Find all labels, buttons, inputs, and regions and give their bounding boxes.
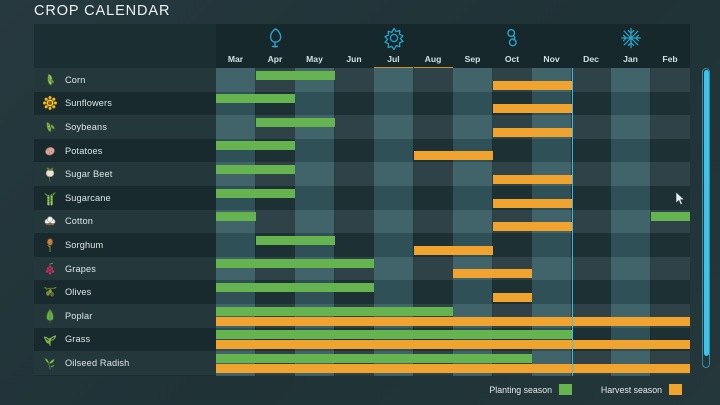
crop-name: Potatoes <box>65 146 102 156</box>
crop-name: Corn <box>65 75 86 85</box>
legend-harvest-label: Harvest season <box>601 385 662 395</box>
harvest-bar[interactable] <box>493 293 533 302</box>
planting-bar[interactable] <box>216 259 374 268</box>
sunflower-icon <box>42 95 58 111</box>
crop-name: Sugarcane <box>65 193 111 203</box>
harvest-bar[interactable] <box>493 81 572 90</box>
grass-icon <box>42 331 58 347</box>
planting-bar[interactable] <box>256 236 335 245</box>
crop-name: Poplar <box>65 311 92 321</box>
sprout-icon <box>262 26 288 50</box>
cotton-icon <box>42 213 58 229</box>
legend-harvest-swatch <box>669 384 682 395</box>
month-header-feb[interactable]: Feb <box>651 52 690 66</box>
crop-name: Sorghum <box>65 240 103 250</box>
harvest-bar[interactable] <box>493 104 572 113</box>
month-header-sep[interactable]: Sep <box>453 52 492 66</box>
page-title: CROP CALENDAR <box>34 0 170 22</box>
snowflake-icon <box>618 26 644 50</box>
harvest-bar[interactable] <box>216 364 690 373</box>
harvest-bar[interactable] <box>216 317 690 326</box>
crop-row-label[interactable]: Sorghum <box>34 233 216 257</box>
crop-row-label[interactable]: Oilseed Radish <box>34 351 216 375</box>
crop-row-label[interactable]: Potatoes <box>34 139 216 163</box>
planting-bar[interactable] <box>216 94 295 103</box>
crop-name: Grass <box>65 334 90 344</box>
month-header-jul[interactable]: Jul <box>374 52 413 66</box>
harvest-bar[interactable] <box>493 175 572 184</box>
month-header-jun[interactable]: Jun <box>335 52 374 66</box>
calendar-panel: MarAprMayJunJulAugSepOctNovDecJanFeb Cor… <box>34 24 690 376</box>
crop-name: Oilseed Radish <box>65 358 129 368</box>
season-icon-row <box>216 26 690 52</box>
sugarbeet-icon <box>42 166 58 182</box>
mouse-cursor <box>676 192 686 206</box>
crop-name: Grapes <box>65 264 96 274</box>
legend: Planting season Harvest season <box>34 382 690 400</box>
crop-name: Sugar Beet <box>65 169 112 179</box>
grid-row <box>216 210 690 234</box>
crop-row-label[interactable]: Olives <box>34 280 216 304</box>
calendar-grid[interactable] <box>216 68 690 376</box>
planting-bar[interactable] <box>216 141 295 150</box>
planting-bar[interactable] <box>651 212 691 221</box>
planting-bar[interactable] <box>256 118 335 127</box>
legend-harvest: Harvest season <box>601 384 682 395</box>
crop-name: Cotton <box>65 216 93 226</box>
crop-calendar-screen: CROP CALENDAR MarAprMayJunJulAugSepOctNo… <box>0 0 720 405</box>
month-header-aug[interactable]: Aug <box>414 52 453 66</box>
planting-bar[interactable] <box>216 165 295 174</box>
harvest-bar[interactable] <box>414 151 493 160</box>
planting-bar[interactable] <box>216 283 374 292</box>
crop-name: Olives <box>65 287 91 297</box>
crop-row-label[interactable]: Sunflowers <box>34 92 216 116</box>
planting-bar[interactable] <box>216 212 256 221</box>
harvest-bar[interactable] <box>453 269 532 278</box>
planting-bar[interactable] <box>216 307 453 316</box>
corn-icon <box>42 72 58 88</box>
month-header-row: MarAprMayJunJulAugSepOctNovDecJanFeb <box>216 52 690 68</box>
planting-bar[interactable] <box>216 354 532 363</box>
harvest-bar[interactable] <box>493 128 572 137</box>
scrollbar-thumb[interactable] <box>704 70 709 356</box>
leaf-icon <box>499 26 525 50</box>
crop-row-label[interactable]: Poplar <box>34 304 216 328</box>
olives-icon <box>42 284 58 300</box>
crop-row-label[interactable]: Sugar Beet <box>34 162 216 186</box>
sugarcane-icon <box>42 190 58 206</box>
crop-name: Soybeans <box>65 122 107 132</box>
current-date-marker <box>572 68 574 376</box>
crop-row-label[interactable]: Grass <box>34 328 216 352</box>
calendar-header: MarAprMayJunJulAugSepOctNovDecJanFeb <box>34 24 690 68</box>
soybean-icon <box>42 119 58 135</box>
sun-icon <box>381 26 407 50</box>
crop-row-label[interactable]: Soybeans <box>34 115 216 139</box>
month-header-mar[interactable]: Mar <box>216 52 255 66</box>
oilseedradish-icon <box>42 355 58 371</box>
crop-label-column: CornSunflowersSoybeansPotatoesSugar Beet… <box>34 68 216 376</box>
planting-bar[interactable] <box>216 189 295 198</box>
crop-row-label[interactable]: Sugarcane <box>34 186 216 210</box>
month-header-dec[interactable]: Dec <box>572 52 611 66</box>
crop-column-header <box>34 24 216 68</box>
month-header-apr[interactable]: Apr <box>256 52 295 66</box>
harvest-bar[interactable] <box>414 246 493 255</box>
month-header-jan[interactable]: Jan <box>611 52 650 66</box>
planting-bar[interactable] <box>256 71 335 80</box>
harvest-bar[interactable] <box>493 199 572 208</box>
crop-row-label[interactable]: Grapes <box>34 257 216 281</box>
poplar-icon <box>42 308 58 324</box>
harvest-bar[interactable] <box>493 222 572 231</box>
crop-row-label[interactable]: Cotton <box>34 210 216 234</box>
sorghum-icon <box>42 237 58 253</box>
calendar-body: CornSunflowersSoybeansPotatoesSugar Beet… <box>34 68 690 376</box>
month-header-may[interactable]: May <box>295 52 334 66</box>
crop-row-label[interactable]: Corn <box>34 68 216 92</box>
legend-planting-label: Planting season <box>489 385 552 395</box>
legend-planting-swatch <box>559 384 572 395</box>
month-header-oct[interactable]: Oct <box>493 52 532 66</box>
potato-icon <box>42 143 58 159</box>
planting-bar[interactable] <box>216 330 572 339</box>
harvest-bar[interactable] <box>216 340 690 349</box>
month-header-nov[interactable]: Nov <box>532 52 571 66</box>
grapes-icon <box>42 261 58 277</box>
crop-name: Sunflowers <box>65 98 112 108</box>
legend-planting: Planting season <box>489 384 572 395</box>
